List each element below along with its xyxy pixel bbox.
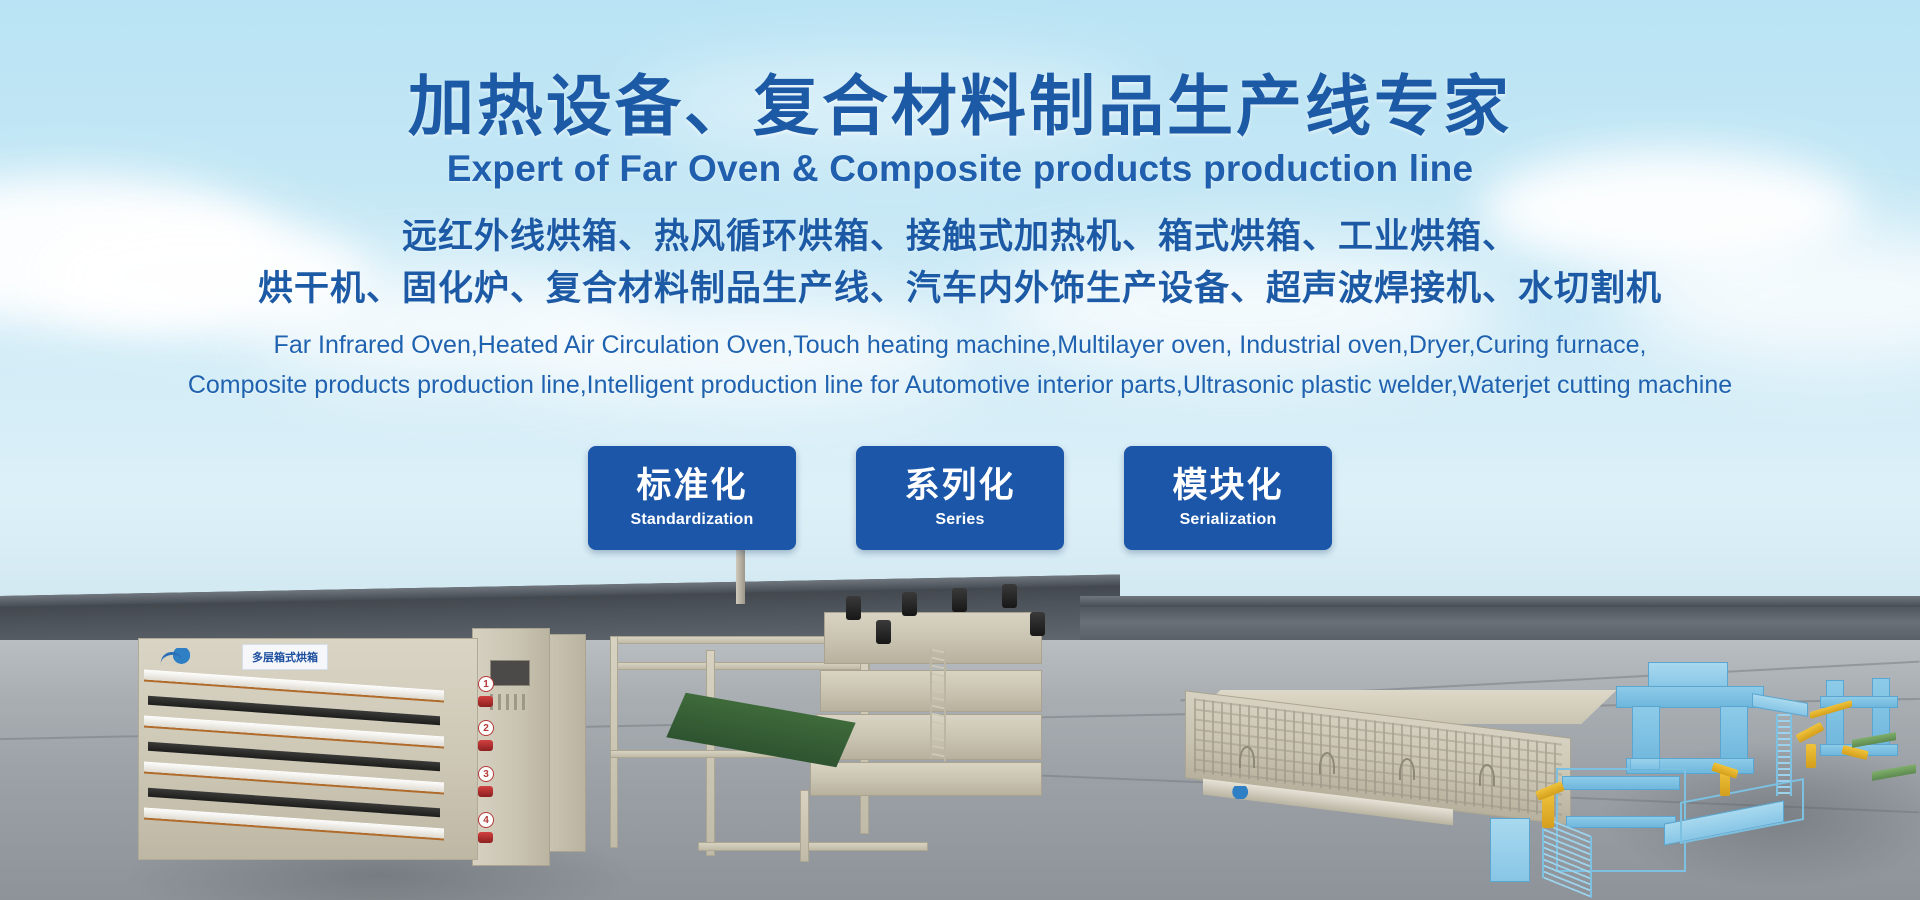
- oven-knob-4: [478, 832, 493, 843]
- press-bolt: [952, 588, 967, 612]
- oven-knob-2: [478, 740, 493, 751]
- oven-nameplate: 多层箱式烘箱: [242, 644, 328, 670]
- blue-press-top-block: [1648, 662, 1728, 688]
- blue-press-table: [1616, 686, 1764, 708]
- badge-series[interactable]: 系列化 Series: [856, 446, 1064, 550]
- feature-badge-row: 标准化 Standardization 系列化 Series 模块化 Seria…: [0, 446, 1920, 550]
- multilayer-oven-machine: 多层箱式烘箱 1 2 3 4: [138, 628, 558, 878]
- parapet-cap: [1080, 596, 1920, 607]
- product-list-chinese-line1: 远红外线烘箱、热风循环烘箱、接触式加热机、箱式烘箱、工业烘箱、: [0, 213, 1920, 261]
- press-frame-post: [610, 636, 618, 848]
- oven-rear-cabinet: [544, 634, 586, 852]
- oven-indicator-2: 2: [478, 720, 494, 736]
- badge-label-chinese: 系列化: [904, 467, 1015, 506]
- press-bolt: [902, 592, 917, 616]
- press-base-platen: [810, 762, 1042, 796]
- small-beige-unit: [1630, 758, 1660, 770]
- access-ladder: [1776, 714, 1792, 796]
- press-access-ladder: [930, 648, 946, 761]
- badge-label-chinese: 标准化: [636, 467, 747, 506]
- blue-gantry-column: [1826, 680, 1844, 750]
- badge-label-english: Series: [935, 511, 984, 529]
- blue-conveyor-deck: [1566, 816, 1676, 828]
- press-bolt: [846, 596, 861, 620]
- blue-side-panel: [1490, 818, 1530, 882]
- badge-label-english: Serialization: [1180, 511, 1277, 529]
- blue-press-leg: [1720, 706, 1748, 764]
- banner-text-block: 加热设备、复合材料制品生产线专家 Expert of Far Oven & Co…: [0, 0, 1920, 404]
- oven-vent-holes: [490, 694, 530, 710]
- headline-english: Expert of Far Oven & Composite products …: [0, 150, 1920, 189]
- automated-production-line: [1480, 640, 1920, 900]
- green-pallet: [1872, 764, 1916, 781]
- oven-indicator-1: 1: [478, 676, 494, 692]
- product-list-english-line1: Far Infrared Oven,Heated Air Circulation…: [0, 327, 1920, 365]
- press-frame-post: [800, 790, 809, 862]
- roof-parapet-right: [1080, 596, 1920, 644]
- oven-indicator-4: 4: [478, 812, 494, 828]
- product-list-chinese-line2: 烘干机、固化炉、复合材料制品生产线、汽车内外饰生产设备、超声波焊接机、水切割机: [0, 265, 1920, 313]
- oven-indicator-3: 3: [478, 766, 494, 782]
- press-bolt: [876, 620, 891, 644]
- press-bolt: [1002, 584, 1017, 608]
- robot-arm: [1806, 744, 1816, 768]
- badge-standardization[interactable]: 标准化 Standardization: [588, 446, 796, 550]
- robot-arm: [1796, 722, 1825, 743]
- badge-label-english: Standardization: [630, 511, 753, 529]
- oven-display-screen: [490, 660, 530, 686]
- blue-conveyor-deck: [1562, 776, 1680, 790]
- composite-press-machine: [610, 590, 1080, 890]
- press-frame-rail: [698, 842, 928, 851]
- badge-label-chinese: 模块化: [1172, 467, 1283, 506]
- headline-chinese: 加热设备、复合材料制品生产线专家: [0, 74, 1920, 140]
- product-banner: 多层箱式烘箱 1 2 3 4: [0, 0, 1920, 900]
- oven-knob-3: [478, 786, 493, 797]
- badge-serialization[interactable]: 模块化 Serialization: [1124, 446, 1332, 550]
- press-bolt: [1030, 612, 1045, 636]
- oven-knob-1: [478, 696, 493, 707]
- brand-logo-icon: [162, 648, 192, 664]
- product-list-english-line2: Composite products production line,Intel…: [0, 367, 1920, 405]
- brand-logo-icon: [1223, 786, 1249, 799]
